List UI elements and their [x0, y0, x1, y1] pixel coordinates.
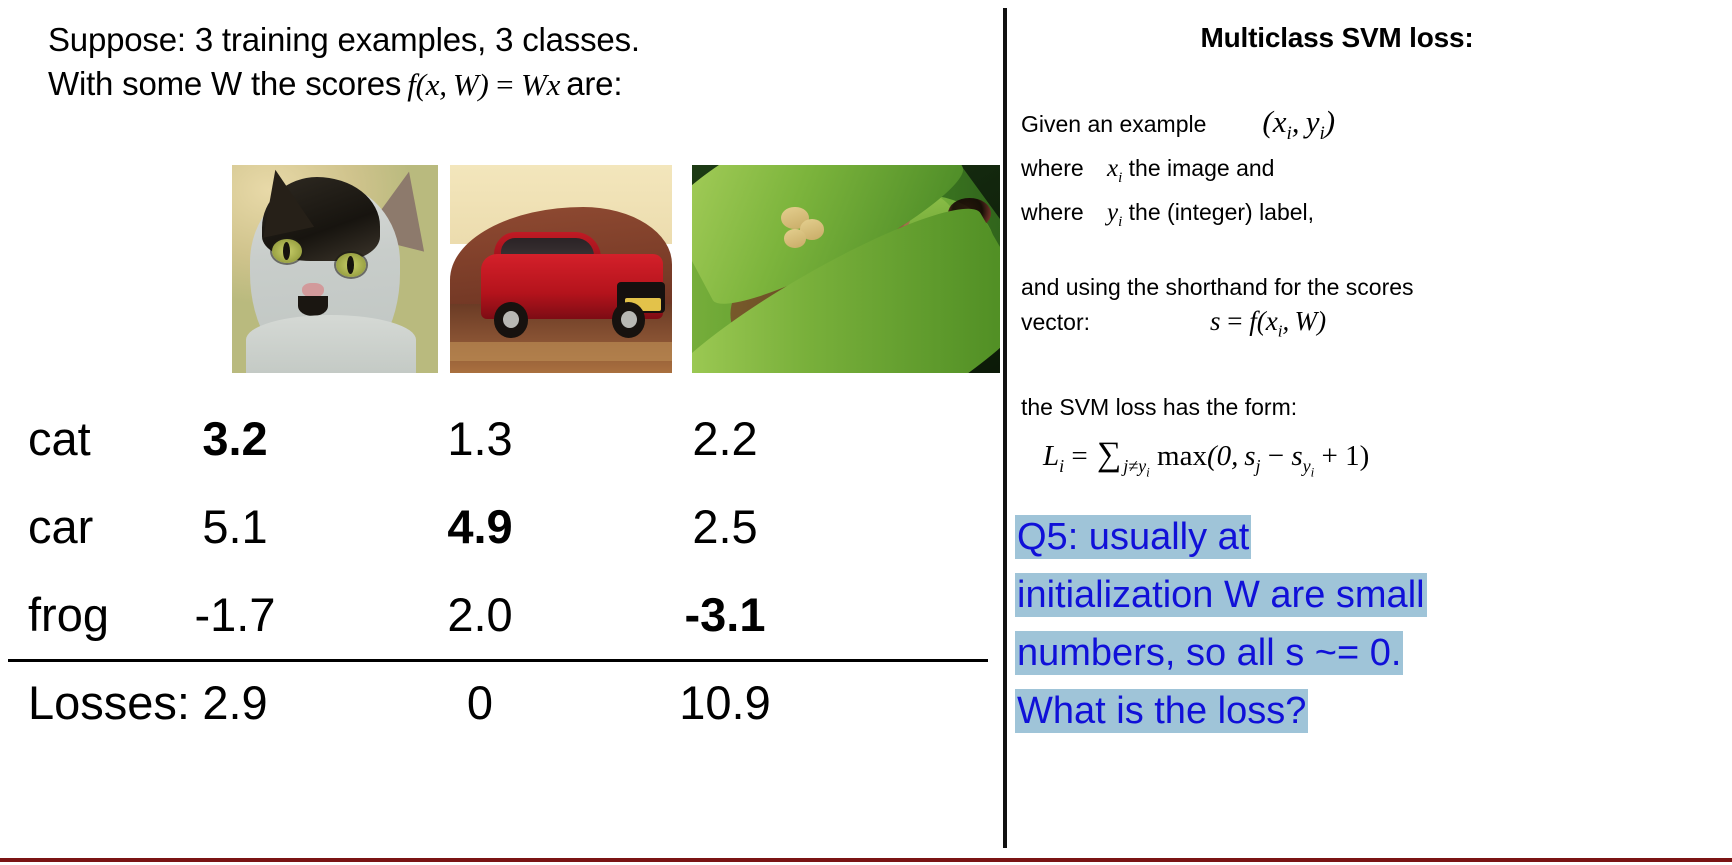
cat-mouth: [298, 296, 328, 316]
question-line-3: numbers, so all s ~= 0.: [1015, 624, 1731, 682]
table-row-losses: Losses: 2.9 0 10.9: [0, 659, 1003, 751]
table-row: cat 3.2 1.3 2.2: [0, 395, 1003, 483]
table-row: frog -1.7 2.0 -3.1: [0, 571, 1003, 659]
intro-line-2-prefix: With some W the scores: [48, 65, 401, 102]
loss-image3: 10.9: [635, 659, 815, 747]
given-line-3: whereyi the (integer) label,: [1021, 195, 1721, 239]
intro-block: Suppose: 3 training examples, 3 classes.…: [48, 18, 988, 107]
question-line-2: initialization W are small: [1015, 566, 1731, 624]
question-block: Q5: usually at initialization W are smal…: [1015, 508, 1731, 740]
given-line-3-text: the (integer) label,: [1129, 199, 1314, 225]
cat-chest: [246, 315, 416, 373]
example-pair-math: (xi, yi): [1206, 104, 1335, 139]
thumbnail-row: [0, 165, 1003, 373]
given-line-1: Given an example(xi, yi): [1021, 105, 1721, 151]
question-line-4-text: What is the loss?: [1015, 689, 1308, 733]
page-title: Multiclass SVM loss:: [1007, 22, 1667, 54]
question-line-1: Q5: usually at: [1015, 508, 1731, 566]
car-rear-wheel: [612, 302, 645, 337]
car-front-wheel: [494, 302, 527, 337]
car-thumbnail: [450, 165, 672, 373]
score-frog-image2: 2.0: [390, 571, 570, 659]
given-line-1-text: Given an example: [1021, 111, 1206, 137]
question-line-2-text: initialization W are small: [1015, 573, 1427, 617]
bottom-rule: [0, 858, 1732, 862]
shorthand-line-2-label: vector:: [1021, 309, 1090, 335]
table-row: car 5.1 4.9 2.5: [0, 483, 1003, 571]
shorthand-line-2: vector:s = f(xi, W): [1021, 304, 1721, 348]
table-separator-rule: [8, 659, 988, 662]
given-line-2-text: the image and: [1129, 155, 1275, 181]
score-cat-image3: 2.2: [635, 395, 815, 483]
score-car-image3: 2.5: [635, 483, 815, 571]
loss-form-block: the SVM loss has the form: Li = ∑j≠yi ma…: [1021, 390, 1721, 480]
score-cat-image1: 3.2: [145, 395, 325, 483]
loss-form-intro: the SVM loss has the form:: [1021, 390, 1721, 424]
score-frog-image3: -3.1: [635, 571, 815, 659]
given-example-block: Given an example(xi, yi) wherexi the ima…: [1021, 105, 1721, 239]
score-frog-image1: -1.7: [145, 571, 325, 659]
question-line-4: What is the loss?: [1015, 682, 1731, 740]
car-road-strip: [450, 342, 672, 361]
intro-line-2: With some W the scoresf(x, W) = Wxare:: [48, 62, 988, 107]
row-label-frog: frog: [28, 571, 109, 659]
score-function-formula: f(x, W) = Wx: [401, 67, 566, 102]
cat-left-eye: [272, 239, 302, 263]
row-label-car: car: [28, 483, 93, 571]
loss-image2: 0: [390, 659, 570, 747]
row-label-cat: cat: [28, 395, 91, 483]
intro-line-1: Suppose: 3 training examples, 3 classes.: [48, 18, 988, 62]
yi-math: yi: [1107, 199, 1122, 226]
frog-toe-3: [784, 229, 806, 248]
question-line-3-text: numbers, so all s ~= 0.: [1015, 631, 1403, 675]
given-line-2: wherexi the image and: [1021, 151, 1721, 195]
loss-image1: 2.9: [145, 659, 325, 747]
shorthand-line-1: and using the shorthand for the scores: [1021, 270, 1721, 304]
given-line-2-label: where: [1021, 151, 1107, 185]
given-line-3-label: where: [1021, 195, 1107, 229]
xi-math: xi: [1107, 155, 1122, 182]
question-line-1-text: Q5: usually at: [1015, 515, 1251, 559]
scores-vector-formula: s = f(xi, W): [1090, 306, 1326, 336]
intro-line-2-suffix: are:: [566, 65, 622, 102]
cat-thumbnail: [232, 165, 438, 373]
svm-loss-formula: Li = ∑j≠yi max(0, sj − syi + 1): [1021, 424, 1721, 480]
left-panel: Suppose: 3 training examples, 3 classes.…: [0, 0, 1003, 865]
frog-thumbnail: [692, 165, 1000, 373]
cat-right-eye: [336, 253, 366, 277]
shorthand-block: and using the shorthand for the scores v…: [1021, 270, 1721, 348]
score-cat-image2: 1.3: [390, 395, 570, 483]
score-car-image2: 4.9: [390, 483, 570, 571]
right-panel: Multiclass SVM loss: Given an example(xi…: [1007, 0, 1732, 865]
score-table: cat 3.2 1.3 2.2 car 5.1 4.9 2.5 frog -1.…: [0, 395, 1003, 751]
score-car-image1: 5.1: [145, 483, 325, 571]
